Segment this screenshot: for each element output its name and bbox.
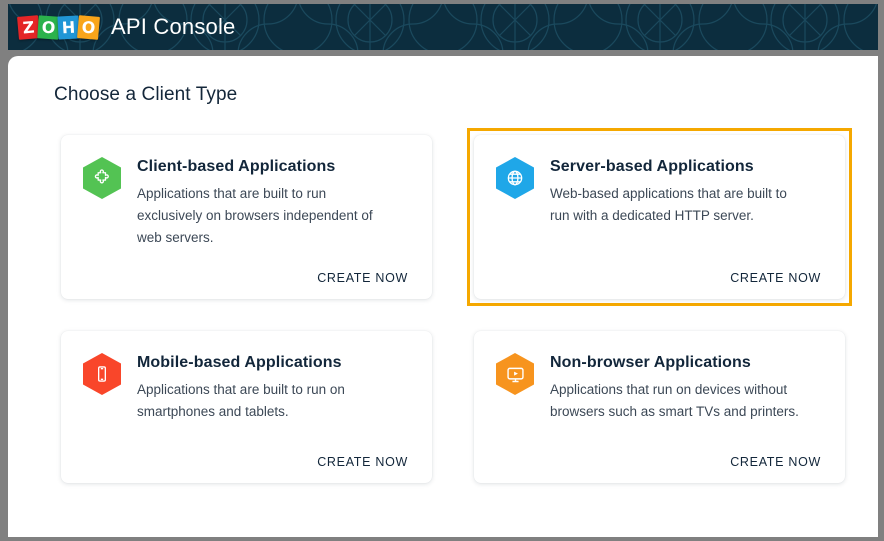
card-description: Web-based applications that are built to…	[550, 183, 808, 227]
client-type-slot-server-based: Server-based Applications Web-based appl…	[467, 128, 852, 306]
client-type-card-client-based[interactable]: Client-based Applications Applications t…	[61, 135, 432, 299]
zoho-logo[interactable]: Z O H O	[18, 12, 98, 42]
page-title: Choose a Client Type	[54, 84, 878, 106]
create-now-button[interactable]: CREATE NOW	[317, 265, 408, 285]
client-type-slot-mobile-based: Mobile-based Applications Applications t…	[54, 324, 439, 490]
client-type-card-server-based[interactable]: Server-based Applications Web-based appl…	[474, 135, 845, 299]
card-title: Server-based Applications	[550, 158, 808, 176]
create-now-button[interactable]: CREATE NOW	[730, 449, 821, 469]
card-title: Mobile-based Applications	[137, 354, 395, 372]
mobile-phone-icon	[83, 353, 121, 395]
card-description: Applications that run on devices without…	[550, 379, 808, 423]
puzzle-piece-icon	[83, 157, 121, 199]
client-type-card-mobile-based[interactable]: Mobile-based Applications Applications t…	[61, 331, 432, 483]
card-title: Client-based Applications	[137, 158, 395, 176]
client-type-slot-client-based: Client-based Applications Applications t…	[54, 128, 439, 306]
content-panel: Choose a Client Type Client-based Applic…	[8, 56, 878, 537]
globe-icon	[496, 157, 534, 199]
app-header: Z O H O API Console	[8, 4, 878, 50]
client-type-slot-non-browser: Non-browser Applications Applications th…	[467, 324, 852, 490]
client-type-card-grid: Client-based Applications Applications t…	[54, 128, 878, 490]
app-window: Z O H O API Console Choose a Client Type	[0, 0, 884, 541]
create-now-button[interactable]: CREATE NOW	[730, 265, 821, 285]
card-description: Applications that are built to run on sm…	[137, 379, 395, 423]
client-type-card-non-browser[interactable]: Non-browser Applications Applications th…	[474, 331, 845, 483]
card-title: Non-browser Applications	[550, 354, 808, 372]
create-now-button[interactable]: CREATE NOW	[317, 449, 408, 469]
logo-tile-o1: O	[37, 15, 60, 39]
smart-tv-icon	[496, 353, 534, 395]
logo-tile-o2: O	[77, 15, 100, 40]
card-description: Applications that are built to run exclu…	[137, 183, 395, 249]
app-title: API Console	[111, 14, 236, 40]
